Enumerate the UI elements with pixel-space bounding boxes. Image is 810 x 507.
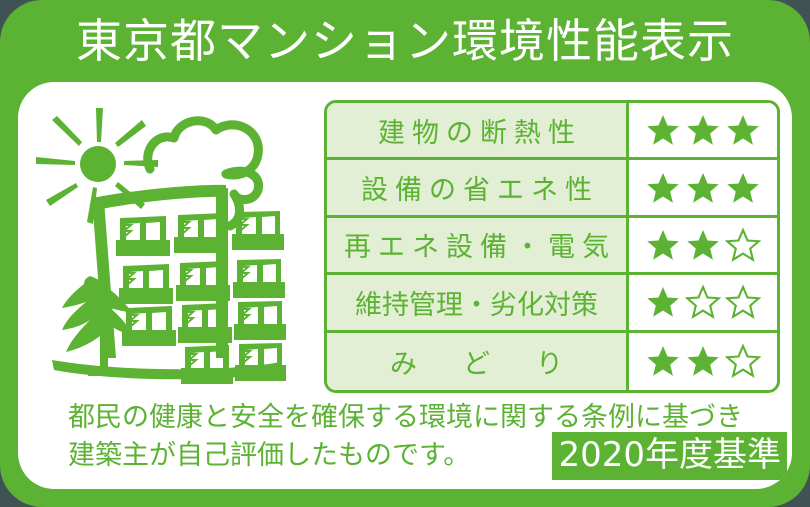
rating-table: 建物の断熱性 設備の省エネ性 再エネ設備・電気 [324, 100, 780, 393]
star-filled-icon [685, 170, 721, 206]
window-group [122, 301, 286, 346]
window-group [119, 259, 285, 304]
table-row: 再エネ設備・電気 [327, 218, 777, 275]
rating-label-maintenance: 維持管理・劣化対策 [327, 275, 629, 329]
table-row: 設備の省エネ性 [327, 160, 777, 217]
star-empty-icon [685, 284, 721, 320]
table-row: 維持管理・劣化対策 [327, 275, 777, 332]
rating-stars-energy-saving [629, 160, 777, 214]
star-empty-icon [725, 284, 761, 320]
cloud-icon [148, 121, 259, 226]
page-title: 東京都マンション環境性能表示 [76, 18, 734, 64]
rating-label-greenery: みどり [327, 333, 629, 390]
star-filled-icon [645, 227, 681, 263]
star-filled-icon [645, 112, 681, 148]
ground-line [52, 360, 282, 379]
disclaimer-line-1: 都民の健康と安全を確保する環境に関する条例に基づき [68, 404, 743, 431]
table-row: 建物の断熱性 [327, 103, 777, 160]
disclaimer-line-2: 建築主が自己評価したものです。 [68, 442, 470, 469]
apartment-building-icon [92, 185, 286, 384]
star-empty-icon [725, 343, 761, 379]
apartment-building-eco-illustration [30, 94, 320, 394]
window-group [116, 211, 284, 256]
footer: 都民の健康と安全を確保する環境に関する条例に基づき 建築主が自己評価したものです… [18, 396, 792, 489]
title-bar: 東京都マンション環境性能表示 [0, 0, 810, 82]
star-filled-icon [645, 170, 681, 206]
star-filled-icon [685, 227, 721, 263]
star-empty-icon [725, 227, 761, 263]
star-filled-icon [645, 284, 681, 320]
star-filled-icon [685, 112, 721, 148]
inner-panel: 建物の断熱性 設備の省エネ性 再エネ設備・電気 [18, 82, 792, 489]
rating-label-renewable-energy: 再エネ設備・電気 [327, 218, 629, 272]
rating-stars-greenery [629, 333, 777, 390]
rating-label-energy-saving: 設備の省エネ性 [327, 160, 629, 214]
rating-stars-maintenance [629, 275, 777, 329]
rating-label-insulation: 建物の断熱性 [327, 103, 629, 157]
illustration-container [30, 94, 320, 394]
star-filled-icon [725, 170, 761, 206]
table-row: みどり [327, 333, 777, 390]
environmental-performance-label: 東京都マンション環境性能表示 [0, 0, 810, 507]
rating-stars-renewable-energy [629, 218, 777, 272]
star-filled-icon [685, 343, 721, 379]
year-standard-badge: 2020年度基準 [552, 432, 787, 480]
star-filled-icon [645, 343, 681, 379]
rating-stars-insulation [629, 103, 777, 157]
star-filled-icon [725, 112, 761, 148]
